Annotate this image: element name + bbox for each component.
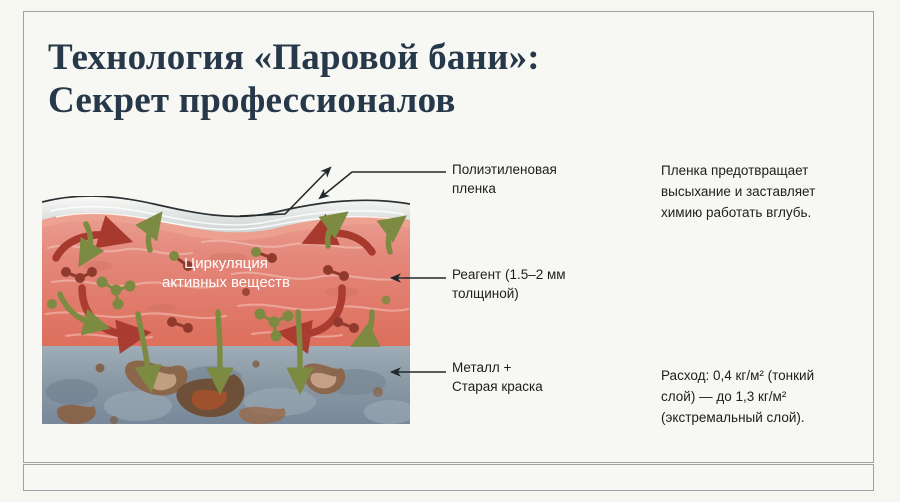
title-line-2: Секрет профессионалов [48, 79, 668, 122]
slide: Технология «Паровой бани»: Секрет профес… [0, 0, 900, 502]
page-title: Технология «Паровой бани»: Секрет профес… [48, 36, 668, 123]
callout-label-reagent: Реагент (1.5–2 мм толщиной) [452, 265, 622, 303]
metal-layer [42, 346, 410, 424]
note-film: Пленка предотвращает высыхание и заставл… [661, 161, 866, 224]
diagram-inner-label-line2: активных веществ [162, 274, 290, 291]
callout-label-film: Полиэтиленовая пленка [452, 160, 622, 198]
cross-section-diagram: Циркуляция активных веществ [42, 196, 410, 424]
diagram-inner-label-line1: Циркуляция [184, 255, 268, 272]
slide-footer-strip [23, 464, 874, 491]
callout-label-substrate: Металл + Старая краска [452, 358, 622, 396]
note-consumption: Расход: 0,4 кг/м² (тонкий слой) — до 1,3… [661, 366, 873, 429]
title-line-1: Технология «Паровой бани»: [48, 37, 540, 78]
